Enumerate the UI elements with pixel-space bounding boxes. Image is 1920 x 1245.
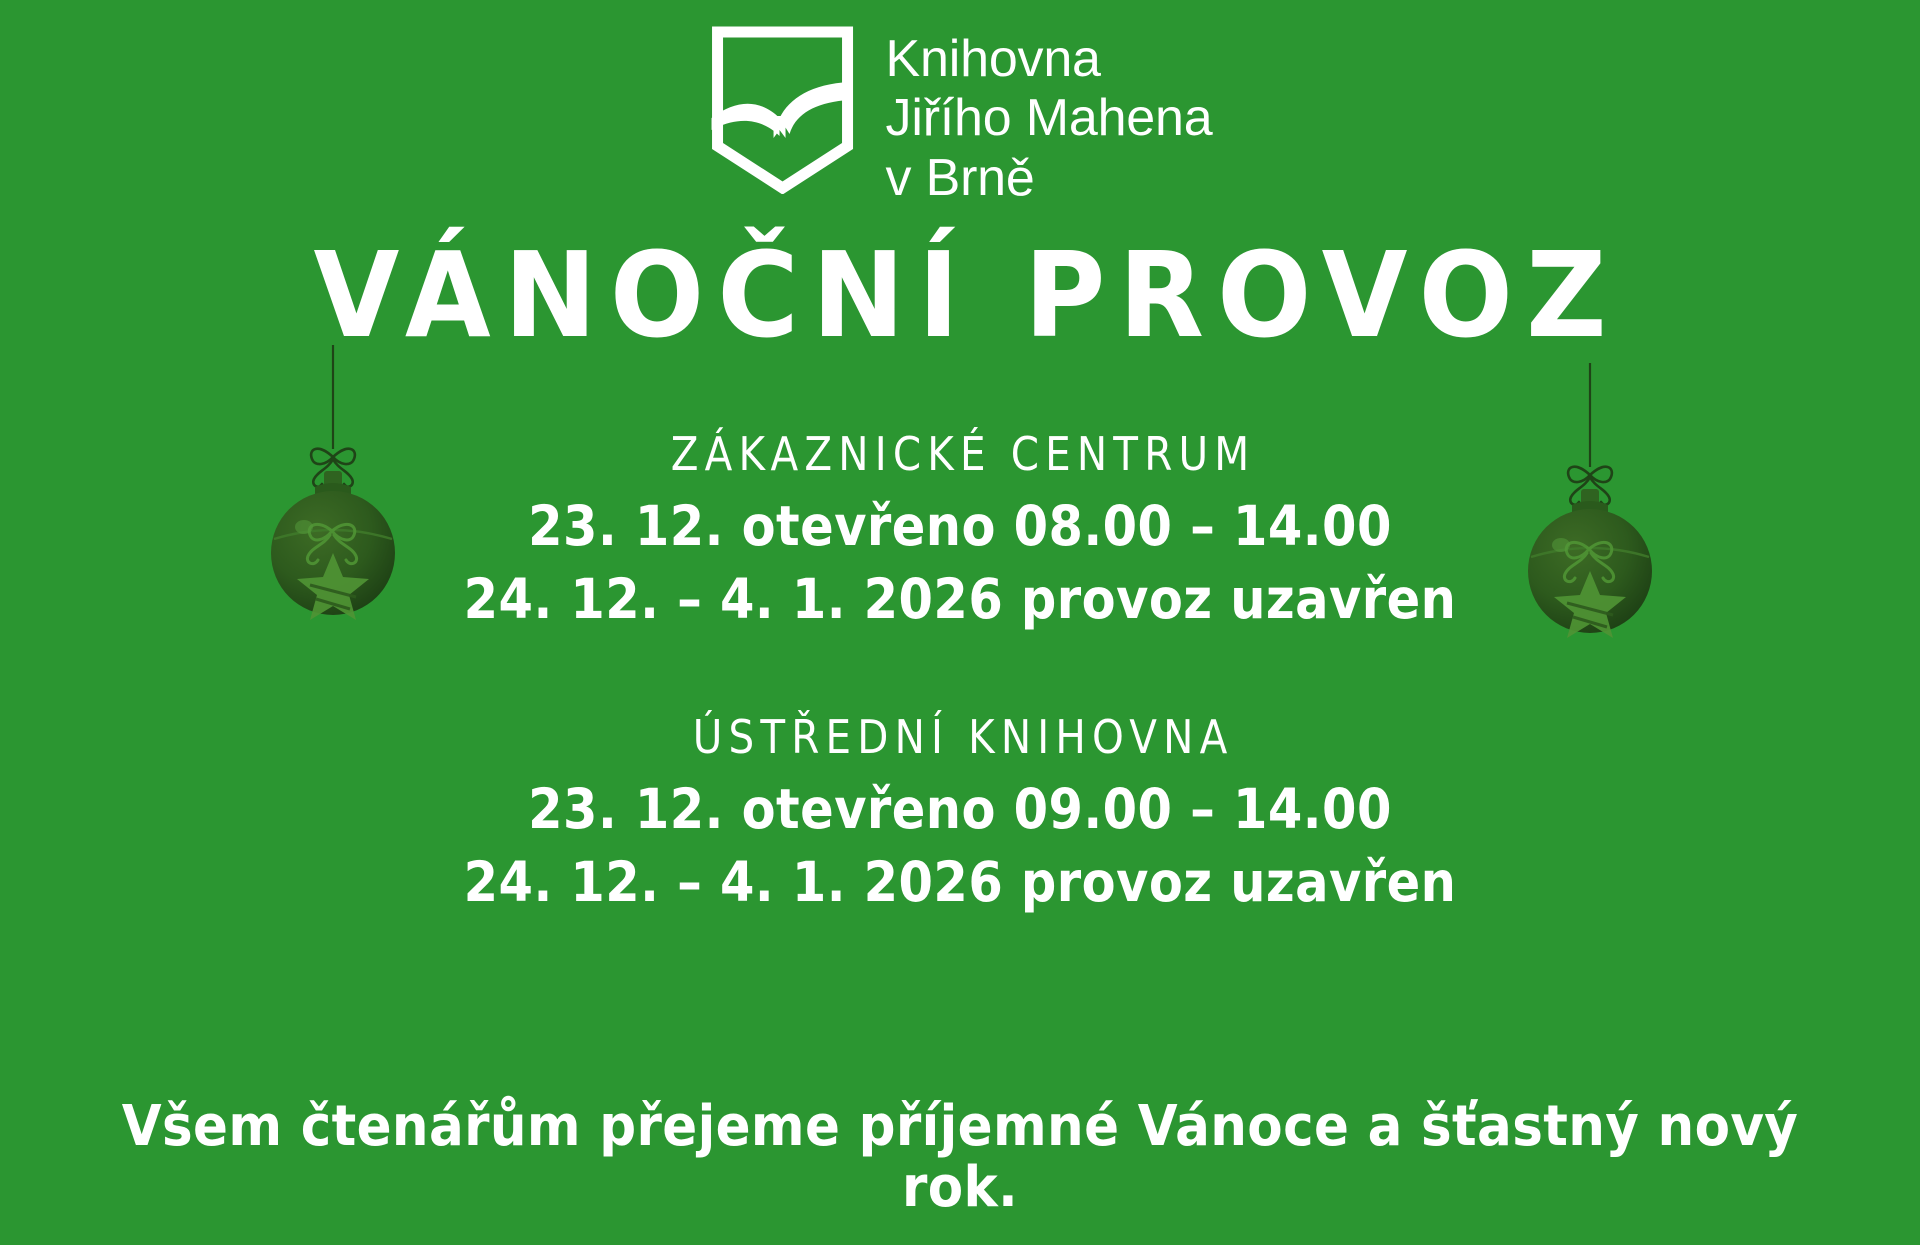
section-line-1: 23. 12. otevřeno 08.00 – 14.00 xyxy=(96,490,1824,563)
section-zakaznicke-centrum: ZÁKAZNICKÉ CENTRUM 23. 12. otevřeno 08.0… xyxy=(0,425,1920,636)
logo-line-2: Jiřího Mahena xyxy=(886,89,1213,148)
section-ustredni-knihovna: ÚSTŘEDNÍ KNIHOVNA 23. 12. otevřeno 09.00… xyxy=(0,708,1920,919)
section-line-2: 24. 12. – 4. 1. 2026 provoz uzavřen xyxy=(96,563,1824,636)
logo-line-1: Knihovna xyxy=(886,30,1213,89)
footer-greeting: Všem čtenářům přejeme příjemné Vánoce a … xyxy=(77,1096,1843,1219)
section-heading: ZÁKAZNICKÉ CENTRUM xyxy=(115,425,1805,484)
section-line-2: 24. 12. – 4. 1. 2026 provoz uzavřen xyxy=(96,846,1824,919)
logo-line-3: v Brně xyxy=(886,149,1213,208)
section-line-1: 23. 12. otevřeno 09.00 – 14.00 xyxy=(96,773,1824,846)
opening-hours-sections: ZÁKAZNICKÉ CENTRUM 23. 12. otevřeno 08.0… xyxy=(0,425,1920,919)
section-heading: ÚSTŘEDNÍ KNIHOVNA xyxy=(115,708,1805,767)
poster-canvas: Knihovna Jiřího Mahena v Brně VÁNOČNÍ PR… xyxy=(0,0,1920,1245)
library-logo-wordmark: Knihovna Jiřího Mahena v Brně xyxy=(886,26,1213,208)
page-title: VÁNOČNÍ PROVOZ xyxy=(58,236,1863,354)
library-logo: Knihovna Jiřího Mahena v Brně xyxy=(708,26,1213,208)
library-logo-mark-icon xyxy=(708,26,858,194)
